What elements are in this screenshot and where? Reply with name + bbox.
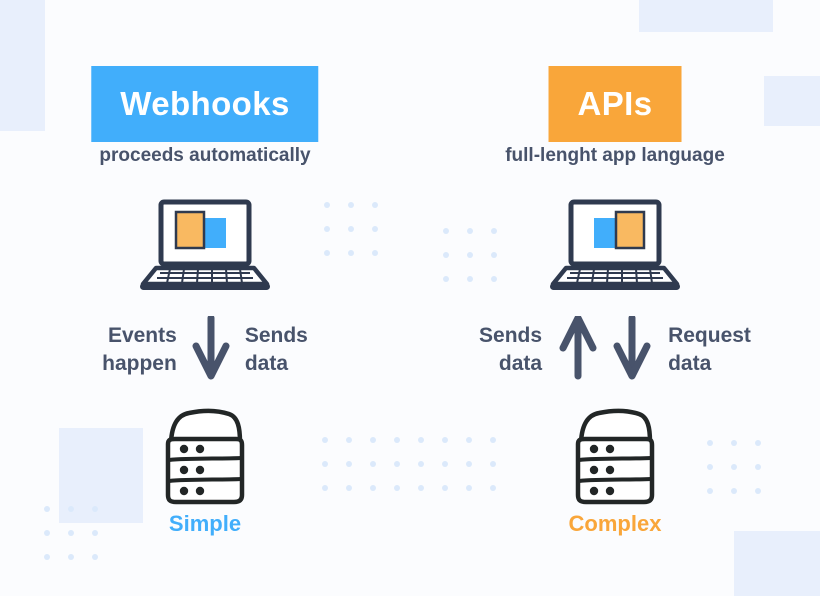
arrow-label-request-data: Request data — [668, 322, 751, 379]
arrow-down-icon — [612, 316, 652, 385]
caption-complex: Complex — [569, 511, 662, 537]
server-stack-icon — [159, 408, 251, 513]
arrow-down-icon — [191, 316, 231, 385]
arrow-label-sends-data: Sends data — [479, 322, 542, 379]
column-subtitle-webhooks: proceeds automatically — [99, 145, 310, 167]
arrow-label-sends-data: Sends data — [245, 322, 308, 379]
column-webhooks: Webhooks proceeds automatically Events h… — [0, 0, 410, 596]
column-subtitle-apis: full-lenght app language — [505, 145, 725, 167]
caption-simple: Simple — [169, 511, 241, 537]
laptop-icon — [140, 198, 270, 299]
column-title-apis: APIs — [549, 66, 682, 142]
column-title-webhooks: Webhooks — [91, 66, 318, 142]
arrow-row-webhooks: Events happen Sends data — [0, 310, 410, 390]
arrow-up-icon — [558, 316, 598, 385]
arrow-label-events-happen: Events happen — [102, 322, 177, 379]
laptop-icon — [550, 198, 680, 299]
arrow-row-apis: Sends data Request data — [410, 310, 820, 390]
server-stack-icon — [569, 408, 661, 513]
column-apis: APIs full-lenght app language Sends data — [410, 0, 820, 596]
